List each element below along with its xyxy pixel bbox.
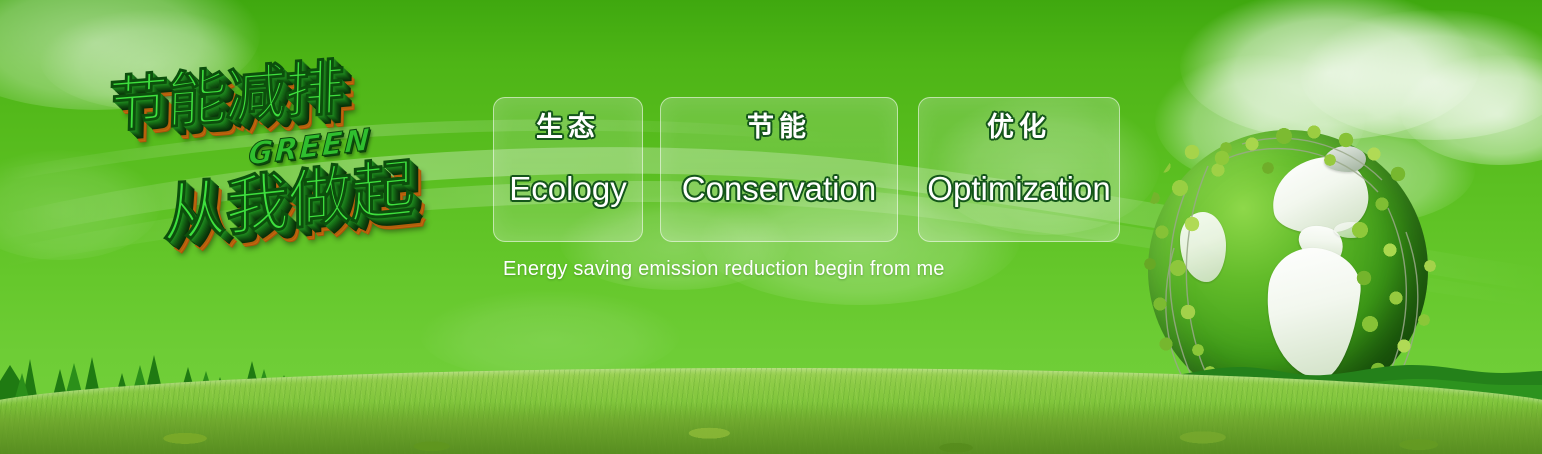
card-optimization-en-label: Optimization — [927, 172, 1110, 205]
eco-banner: 节能减排 GREEN 从我做起 生态 Ecology 节能 Conservati… — [0, 0, 1542, 454]
card-ecology-en-label: Ecology — [509, 172, 626, 205]
card-optimization[interactable]: 优化 Optimization — [918, 97, 1120, 242]
campaign-logo: 节能减排 GREEN 从我做起 — [100, 42, 490, 267]
card-conservation-cn-label: 节能 — [747, 114, 811, 141]
cloud-icon — [420, 290, 680, 380]
cloud-icon — [1180, 0, 1480, 140]
tagline-text: Energy saving emission reduction begin f… — [503, 258, 945, 281]
card-optimization-cn-label: 优化 — [987, 114, 1051, 141]
card-conservation-en-label: Conservation — [682, 172, 876, 205]
card-conservation[interactable]: 节能 Conservation — [660, 97, 898, 242]
logo-line-secondary: 从我做起 — [163, 137, 414, 256]
card-ecology-cn-label: 生态 — [536, 114, 600, 141]
grass-texture — [0, 368, 1542, 454]
logo-line-primary: 节能减排 — [107, 39, 345, 145]
card-ecology[interactable]: 生态 Ecology — [493, 97, 643, 242]
